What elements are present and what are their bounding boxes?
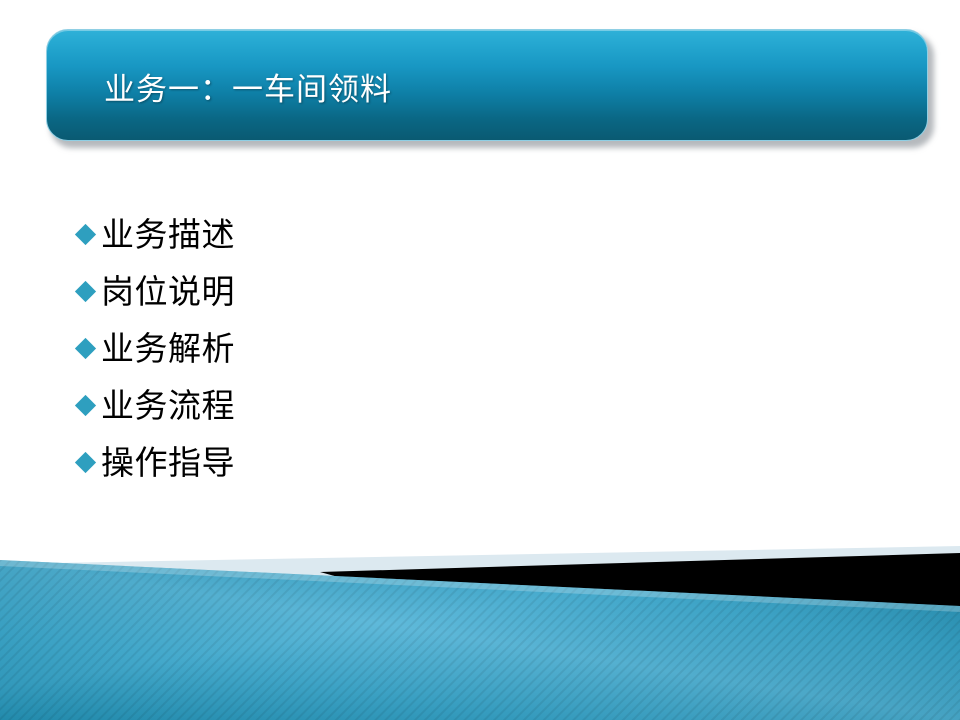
list-item[interactable]: 业务流程 xyxy=(78,377,678,434)
diamond-icon xyxy=(75,224,96,245)
bottom-decoration-graphic xyxy=(0,520,960,720)
list-item-label: 业务解析 xyxy=(101,332,235,365)
list-item-label: 操作指导 xyxy=(101,446,235,479)
page-title: 业务一：一车间领料 xyxy=(104,30,392,142)
list-item[interactable]: 业务解析 xyxy=(78,320,678,377)
list-item[interactable]: 操作指导 xyxy=(78,434,678,491)
list-item-label: 岗位说明 xyxy=(101,275,235,308)
slide-title-bar: 业务一：一车间领料 xyxy=(46,29,930,143)
diamond-icon xyxy=(75,338,96,359)
diamond-icon xyxy=(75,281,96,302)
bottom-decoration xyxy=(0,520,960,720)
slide-canvas: 业务一：一车间领料 业务描述 岗位说明 业务解析 业务流程 操作指导 xyxy=(0,0,960,720)
list-item-label: 业务描述 xyxy=(101,218,235,251)
list-item[interactable]: 岗位说明 xyxy=(78,263,678,320)
list-item-label: 业务流程 xyxy=(101,389,235,422)
list-item[interactable]: 业务描述 xyxy=(78,206,678,263)
bullet-list: 业务描述 岗位说明 业务解析 业务流程 操作指导 xyxy=(78,206,678,491)
title-bar-panel: 业务一：一车间领料 xyxy=(46,29,928,141)
diamond-icon xyxy=(75,452,96,473)
diamond-icon xyxy=(75,395,96,416)
